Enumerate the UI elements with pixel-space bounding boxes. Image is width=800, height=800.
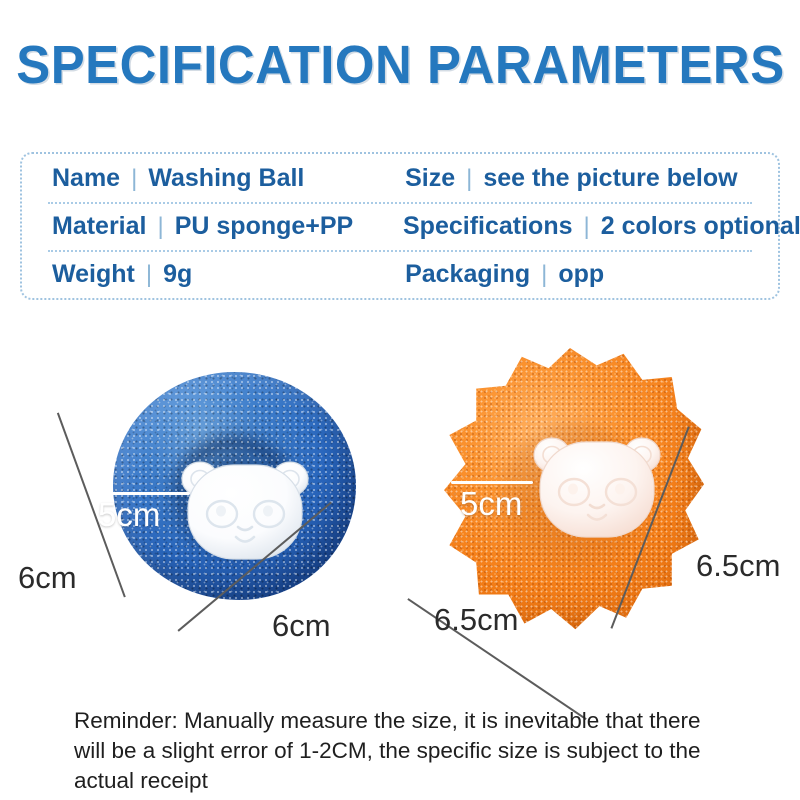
blue-inner-dimension-label: 5cm <box>98 496 160 534</box>
spec-separator: | <box>466 165 472 193</box>
spec-key: Material <box>52 212 146 241</box>
orange-ball-unit: 5cm 6.5cm 6.5cm <box>400 330 800 690</box>
page-title: SPECIFICATION PARAMETERS <box>16 35 784 97</box>
orange-width-dimension-label: 6.5cm <box>434 602 518 638</box>
table-row: Material | PU sponge+PP Specifications |… <box>22 202 778 250</box>
spec-separator: | <box>131 165 137 193</box>
spec-key: Weight <box>52 260 135 289</box>
table-row: Weight | 9g Packaging | opp <box>22 250 778 298</box>
page-title-container: SPECIFICATION PARAMETERS <box>0 38 800 93</box>
orange-inner-dimension-line <box>451 481 533 484</box>
spec-separator: | <box>584 213 590 241</box>
spec-cell-material: Material | PU sponge+PP <box>22 212 393 241</box>
spec-separator: | <box>541 261 547 289</box>
spec-cell-specifications: Specifications | 2 colors optional <box>393 212 778 241</box>
spec-separator: | <box>146 261 152 289</box>
blue-width-dimension-label: 6cm <box>272 608 331 644</box>
spec-value: opp <box>558 260 604 289</box>
product-photo-area: 5cm 6cm 6cm <box>0 330 800 690</box>
reminder-text: Reminder: Manually measure the size, it … <box>74 706 734 796</box>
spec-key: Packaging <box>405 260 530 289</box>
spec-separator: | <box>157 213 163 241</box>
spec-cell-name: Name | Washing Ball <box>22 164 395 193</box>
orange-height-dimension-label: 6.5cm <box>696 548 780 584</box>
blue-height-dimension-label: 6cm <box>18 560 77 596</box>
spec-value: PU sponge+PP <box>175 212 354 241</box>
spec-cell-weight: Weight | 9g <box>22 260 395 289</box>
spec-value: Washing Ball <box>148 164 304 193</box>
orange-inner-dimension-label: 5cm <box>460 485 522 523</box>
spec-key: Name <box>52 164 120 193</box>
spec-cell-size: Size | see the picture below <box>395 164 778 193</box>
spec-cell-packaging: Packaging | opp <box>395 260 778 289</box>
blue-inner-dimension-line <box>100 492 190 495</box>
spec-value: 2 colors optional <box>601 212 800 241</box>
spec-value: 9g <box>163 260 192 289</box>
spec-value: see the picture below <box>483 164 737 193</box>
blue-ball-unit: 5cm 6cm 6cm <box>0 330 400 690</box>
specification-table: Name | Washing Ball Size | see the pictu… <box>20 152 780 300</box>
spec-key: Specifications <box>403 212 573 241</box>
spec-key: Size <box>405 164 455 193</box>
table-row: Name | Washing Ball Size | see the pictu… <box>22 154 778 202</box>
panda-face-icon <box>174 451 316 563</box>
panda-face-icon <box>527 427 667 543</box>
